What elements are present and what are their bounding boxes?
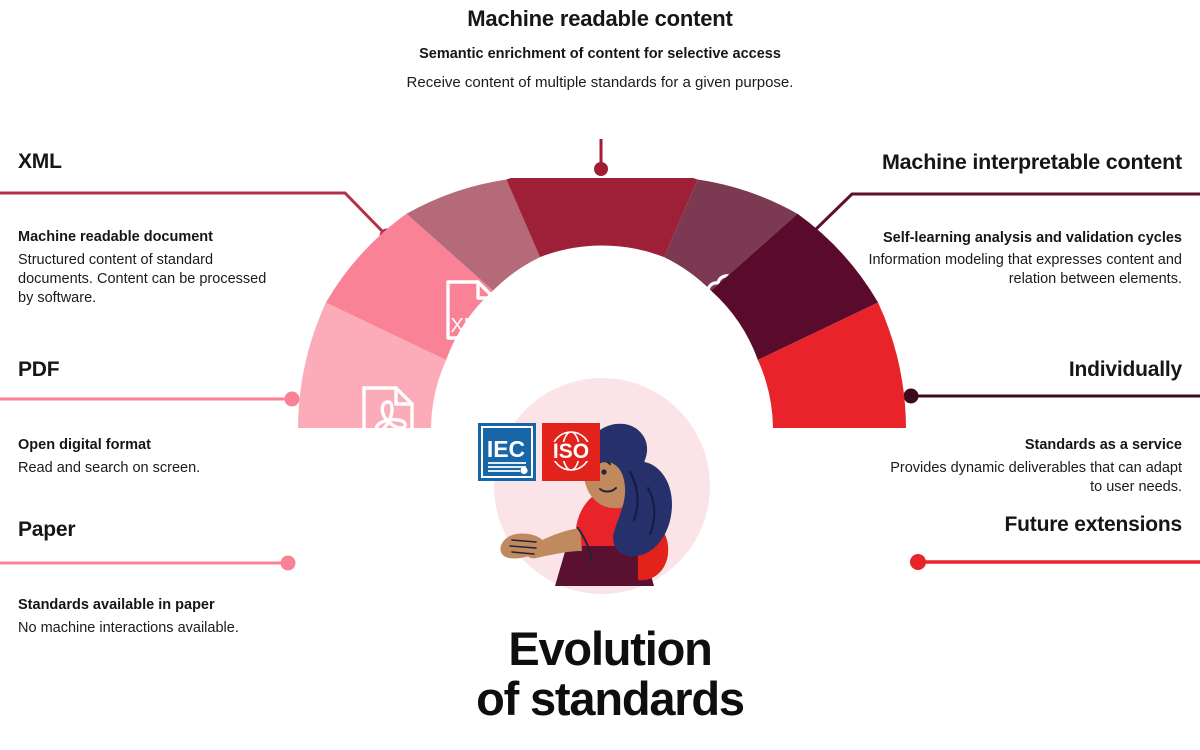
standards-logos: IEC ISO	[478, 423, 602, 485]
connector-future	[910, 554, 1200, 570]
connector-machine-readable	[594, 139, 608, 176]
open-book-icon	[371, 512, 432, 569]
callout-paper[interactable]: Paper Standards available in paper No ma…	[18, 518, 288, 638]
callout-subtitle: Machine readable document	[18, 228, 278, 247]
callout-title: XML	[18, 150, 278, 174]
callout-title: PDF	[18, 358, 278, 382]
callout-individually[interactable]: Individually Standards as a service Prov…	[882, 358, 1182, 497]
callout-title: Future extensions	[882, 513, 1182, 537]
callout-machine-interpretable-content[interactable]: Machine interpretable content Self-learn…	[852, 150, 1182, 290]
iec-logo: IEC	[478, 423, 536, 481]
callout-subtitle: Self-learning analysis and validation cy…	[852, 229, 1182, 248]
callout-body: Receive content of multiple standards fo…	[400, 73, 800, 93]
page-title-line1: Evolution	[380, 624, 840, 674]
callout-xml[interactable]: XML Machine readable document Structured…	[18, 150, 278, 308]
callout-body: Provides dynamic deliverables that can a…	[882, 459, 1182, 497]
svg-text:ISO: ISO	[553, 440, 589, 463]
callout-machine-readable-content[interactable]: Machine readable content Semantic enrich…	[400, 6, 800, 93]
infographic-canvas: XML	[0, 0, 1200, 750]
iso-logo: ISO	[542, 423, 600, 481]
callout-title: Machine interpretable content	[852, 150, 1182, 175]
callout-body: Information modeling that expresses cont…	[852, 251, 1182, 289]
callout-title: Paper	[18, 518, 288, 542]
callout-pdf[interactable]: PDF Open digital format Read and search …	[18, 358, 278, 478]
svg-text:IEC: IEC	[487, 436, 525, 462]
callout-subtitle: Standards as a service	[882, 436, 1182, 455]
callout-subtitle: Standards available in paper	[18, 596, 288, 615]
callout-body: Structured content of standard documents…	[18, 251, 278, 308]
page-title: Evolution of standards	[380, 624, 840, 724]
callout-title: Machine readable content	[400, 6, 800, 31]
document-search-icon	[579, 252, 634, 313]
callout-body: Read and search on screen.	[18, 459, 278, 478]
page-title-line2: of standards	[380, 674, 840, 724]
microchip-icon	[811, 532, 867, 588]
callout-subtitle: Open digital format	[18, 436, 278, 455]
center-illustration	[452, 368, 752, 608]
wheel-segment-machine-readable[interactable]	[506, 178, 697, 313]
callout-subtitle: Semantic enrichment of content for selec…	[400, 45, 800, 64]
svg-text:XML: XML	[450, 315, 491, 337]
callout-body: No machine interactions available.	[18, 619, 288, 638]
callout-title: Individually	[882, 358, 1182, 382]
callout-future-extensions[interactable]: Future extensions	[882, 513, 1182, 537]
